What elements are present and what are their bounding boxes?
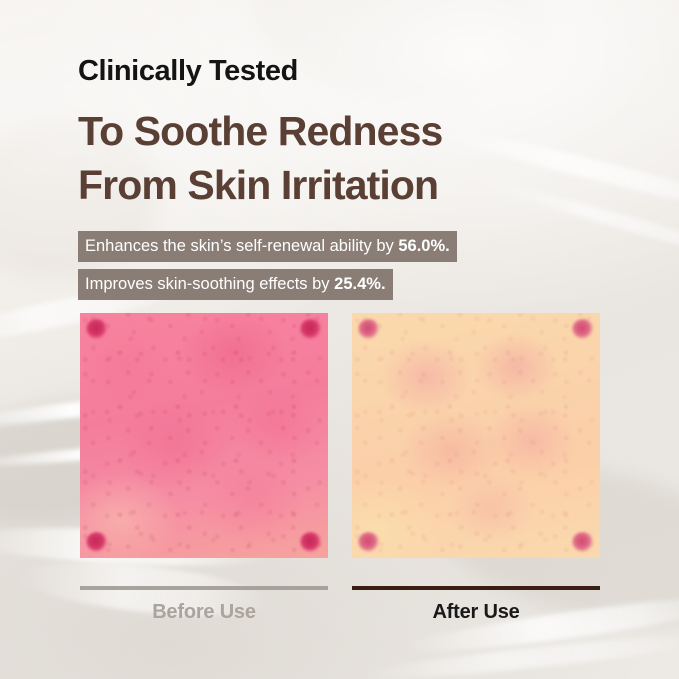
- corner-marker-icon: [572, 532, 594, 552]
- after-divider: [352, 586, 600, 590]
- corner-marker-icon: [358, 532, 380, 552]
- after-caption: After Use: [352, 601, 600, 624]
- corner-marker-icon: [572, 319, 594, 339]
- after-skin-mottling: [352, 313, 600, 558]
- claim-bar-1: Enhances the skin’s self-renewal ability…: [78, 231, 457, 262]
- corner-marker-icon: [300, 319, 322, 339]
- before-caption: Before Use: [80, 601, 328, 624]
- before-skin-image: [80, 313, 328, 558]
- headline-line-1: To Soothe Redness: [78, 108, 442, 154]
- claim-row: Enhances the skin’s self-renewal ability…: [78, 231, 457, 269]
- corner-marker-icon: [86, 319, 108, 339]
- claims-list: Enhances the skin’s self-renewal ability…: [78, 231, 457, 307]
- eyebrow-text: Clinically Tested: [78, 55, 298, 88]
- claim-row: Improves skin-soothing effects by 25.4%.: [78, 269, 457, 307]
- claim-bar-2: Improves skin-soothing effects by 25.4%.: [78, 269, 393, 300]
- corner-marker-icon: [300, 532, 322, 552]
- claim-2-value: 25.4%.: [334, 275, 385, 293]
- corner-marker-icon: [358, 319, 380, 339]
- ad-creative: Clinically Tested To Soothe Redness From…: [0, 0, 679, 679]
- claim-1-value: 56.0%.: [398, 237, 449, 255]
- before-divider: [80, 586, 328, 590]
- claim-2-text: Improves skin-soothing effects by: [85, 275, 334, 293]
- corner-marker-icon: [86, 532, 108, 552]
- claim-1-text: Enhances the skin’s self-renewal ability…: [85, 237, 398, 255]
- after-skin-image: [352, 313, 600, 558]
- before-skin-mottling: [80, 313, 328, 558]
- headline-line-2: From Skin Irritation: [78, 158, 442, 212]
- page-title: To Soothe Redness From Skin Irritation: [78, 104, 442, 212]
